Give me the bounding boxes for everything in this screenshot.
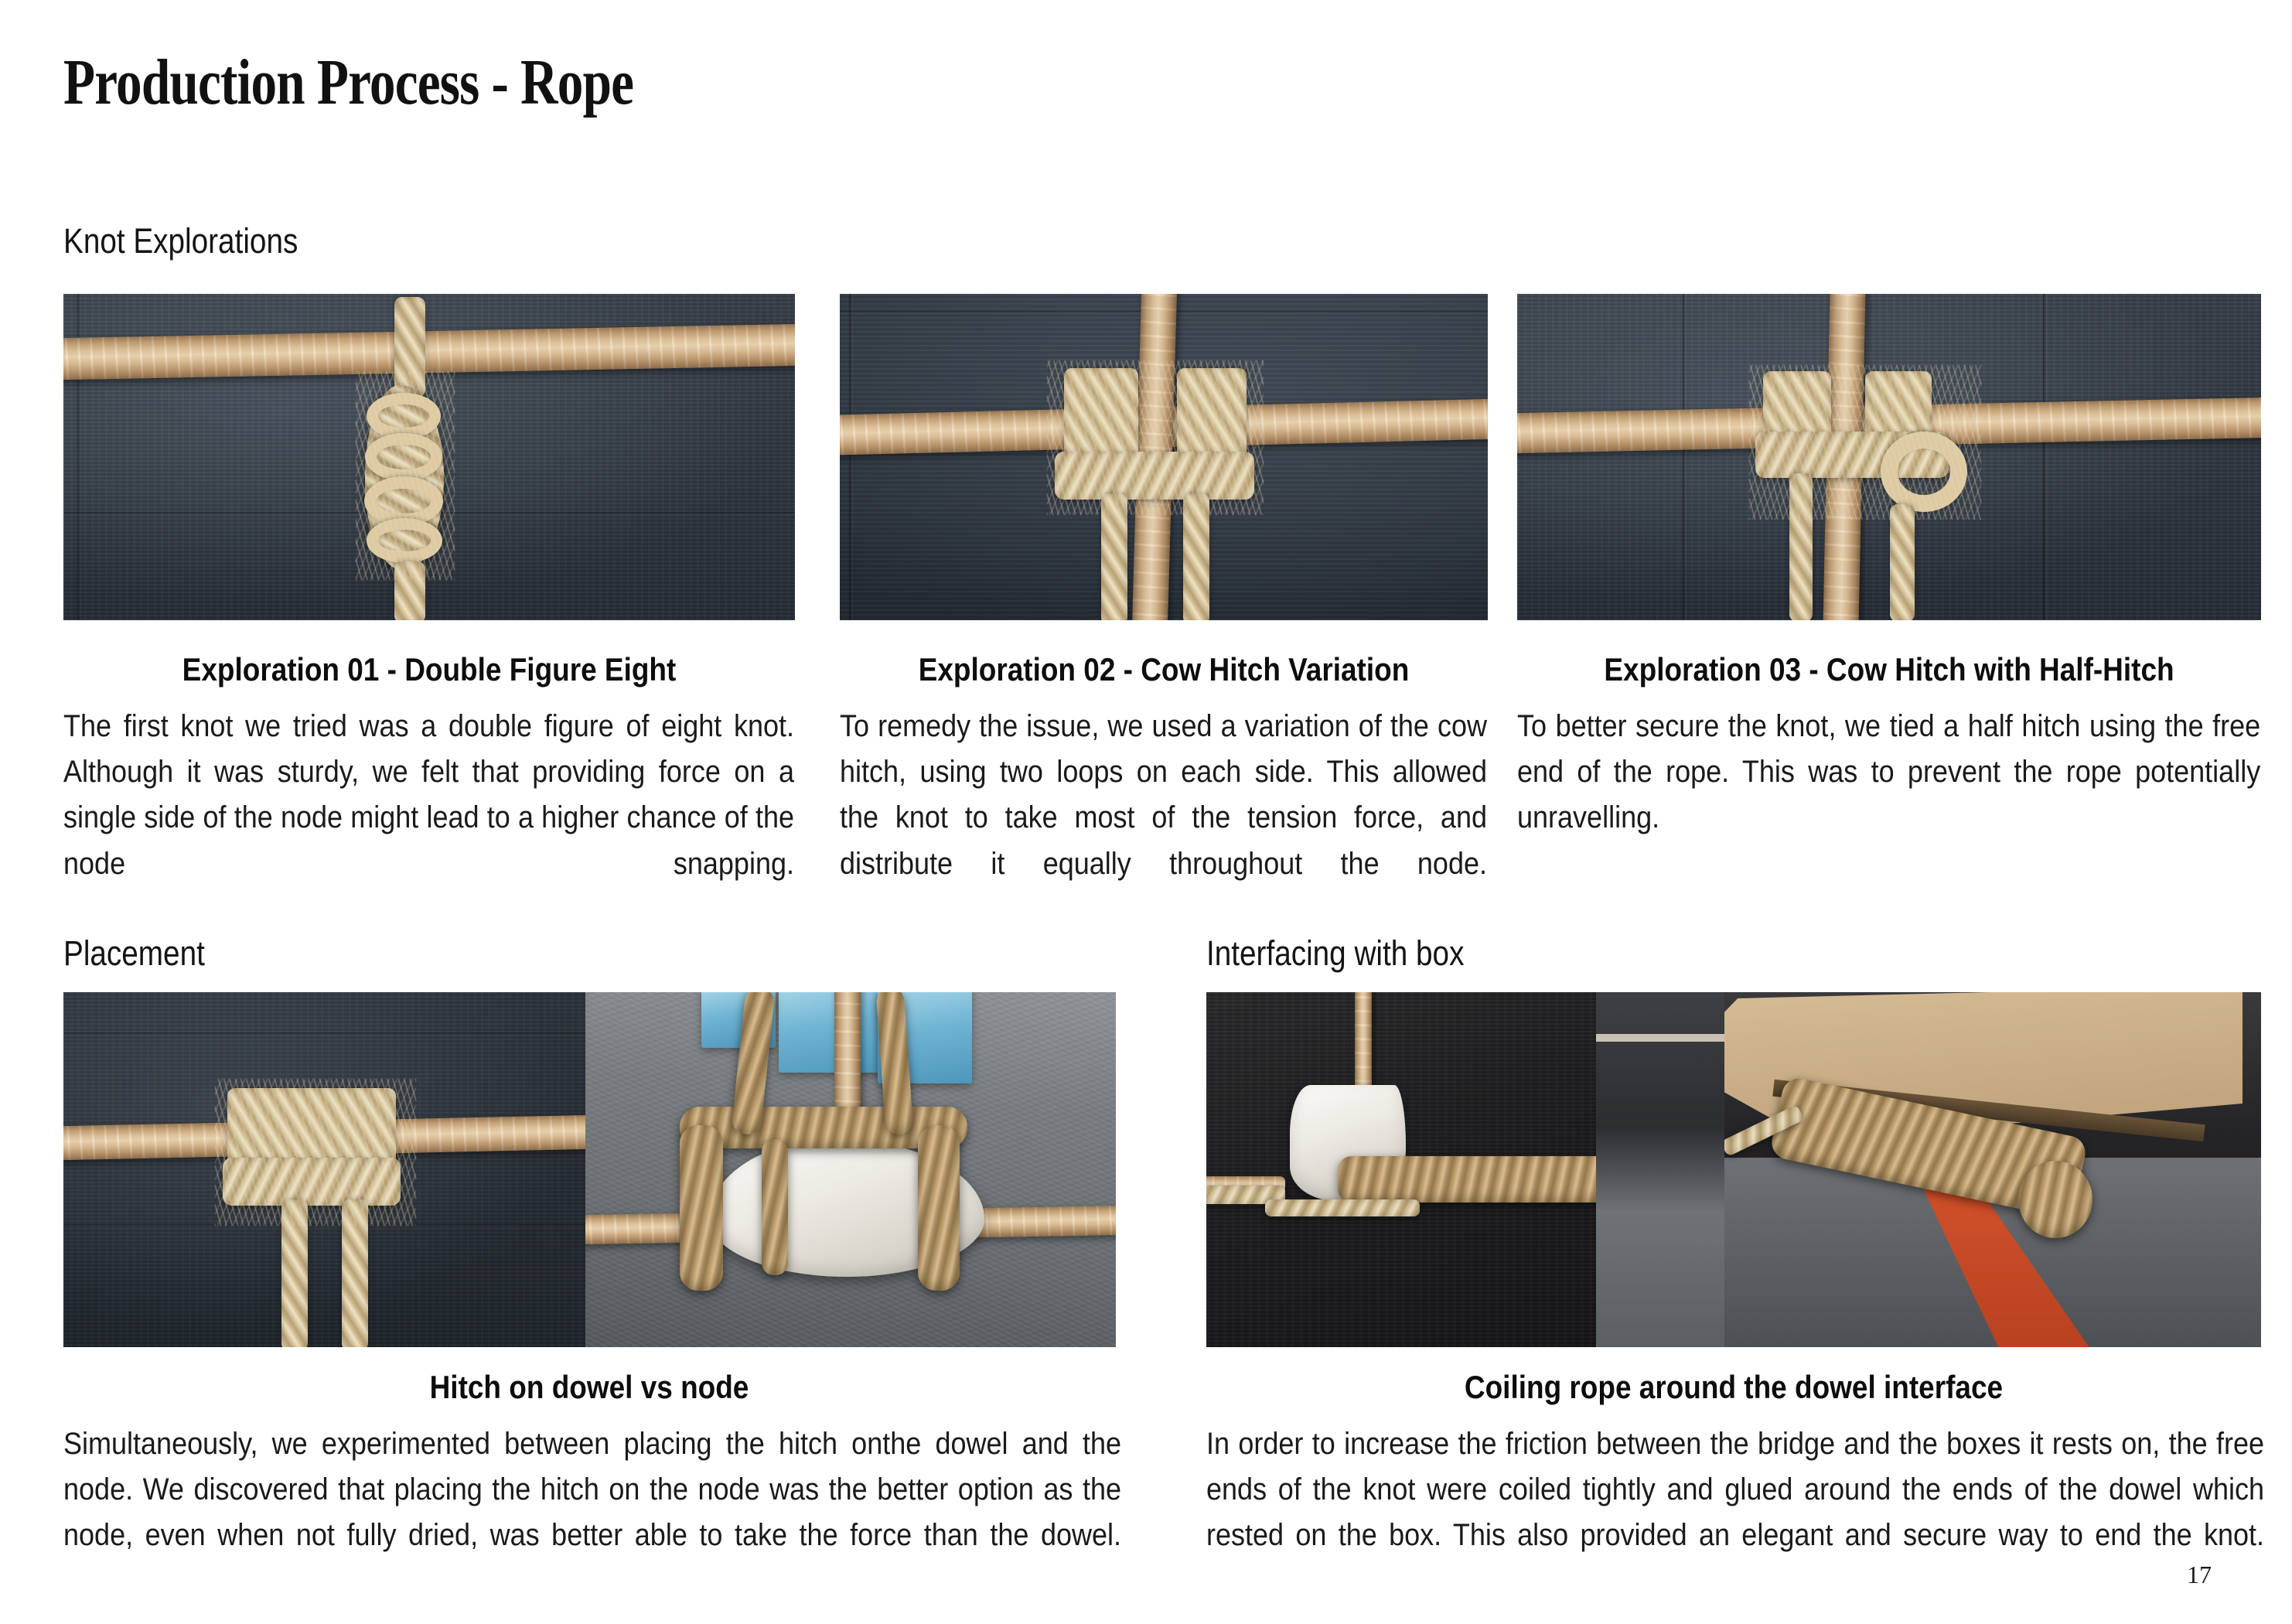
photo-exploration-03: [1517, 294, 2261, 620]
knot-loop: [367, 393, 441, 439]
body-exploration-01: The first knot we tried was a double fig…: [63, 704, 794, 933]
hitch-lower-wrap: [223, 1158, 401, 1206]
section-label-knot-explorations: Knot Explorations: [63, 221, 298, 261]
plank-seam: [1683, 294, 1687, 620]
page-number: 17: [2187, 1561, 2212, 1589]
document-page: Production Process - Rope Knot Explorati…: [0, 0, 2292, 1624]
rope-tail-inner: [762, 1139, 788, 1275]
photo-hitch-on-dowel: [63, 992, 585, 1347]
caption-exploration-03: Exploration 03 - Cow Hitch with Half-Hit…: [1562, 651, 2217, 688]
photo-hitch-on-node: [585, 992, 1116, 1347]
section-label-interfacing-with-box: Interfacing with box: [1206, 933, 1464, 974]
photo-exploration-01: [63, 294, 795, 620]
body-exploration-02: To remedy the issue, we used a variation…: [840, 704, 1487, 933]
caption-coiling-rope-around-dowel-interface: Coiling rope around the dowel interface: [1270, 1369, 2198, 1406]
plank-seam: [2043, 294, 2047, 620]
rope-tail-right: [342, 1199, 368, 1347]
page-title: Production Process - Rope: [63, 45, 633, 120]
body-placement: Simultaneously, we experimented between …: [63, 1421, 1121, 1605]
rope-loop-right: [918, 1125, 960, 1291]
rope-coil-cap: [2018, 1161, 2092, 1238]
section-label-placement: Placement: [63, 933, 205, 974]
rope-tail-left: [1789, 473, 1813, 620]
photo-coiled-dowel-on-board: [1724, 992, 2261, 1347]
table-edge: [1596, 1034, 1724, 1042]
plank-seam: [849, 294, 853, 620]
knot-loop: [367, 518, 442, 563]
plank-seam: [63, 1032, 585, 1035]
rope-tail: [394, 561, 425, 620]
rope-strand: [394, 297, 425, 397]
half-hitch-loop: [1881, 432, 1967, 512]
hitch-wrap: [1055, 452, 1254, 500]
caption-hitch-on-dowel-vs-node: Hitch on dowel vs node: [127, 1369, 1052, 1406]
photo-exploration-02: [840, 294, 1488, 620]
knot-loop: [365, 433, 442, 481]
photo-coiled-rope-at-node: [1206, 992, 1724, 1347]
rope-tail-right: [1183, 493, 1209, 620]
caption-exploration-02: Exploration 02 - Cow Hitch Variation: [878, 651, 1448, 688]
rope-tail-left: [281, 1199, 308, 1347]
rope-loop-left: [680, 1125, 723, 1291]
body-interfacing: In order to increase the friction betwee…: [1206, 1421, 2264, 1605]
room-background-right: [1596, 992, 1724, 1347]
rope-tail-left: [1101, 493, 1127, 620]
wooden-dowel-vertical: [1355, 992, 1372, 1096]
rope-lower-return: [1265, 1199, 1420, 1216]
caption-exploration-01: Exploration 01 - Double Figure Eight: [107, 651, 751, 688]
plank-seam: [63, 1224, 585, 1227]
rope-tail-right: [1890, 504, 1915, 620]
body-exploration-03: To better secure the knot, we tied a hal…: [1517, 704, 2260, 887]
